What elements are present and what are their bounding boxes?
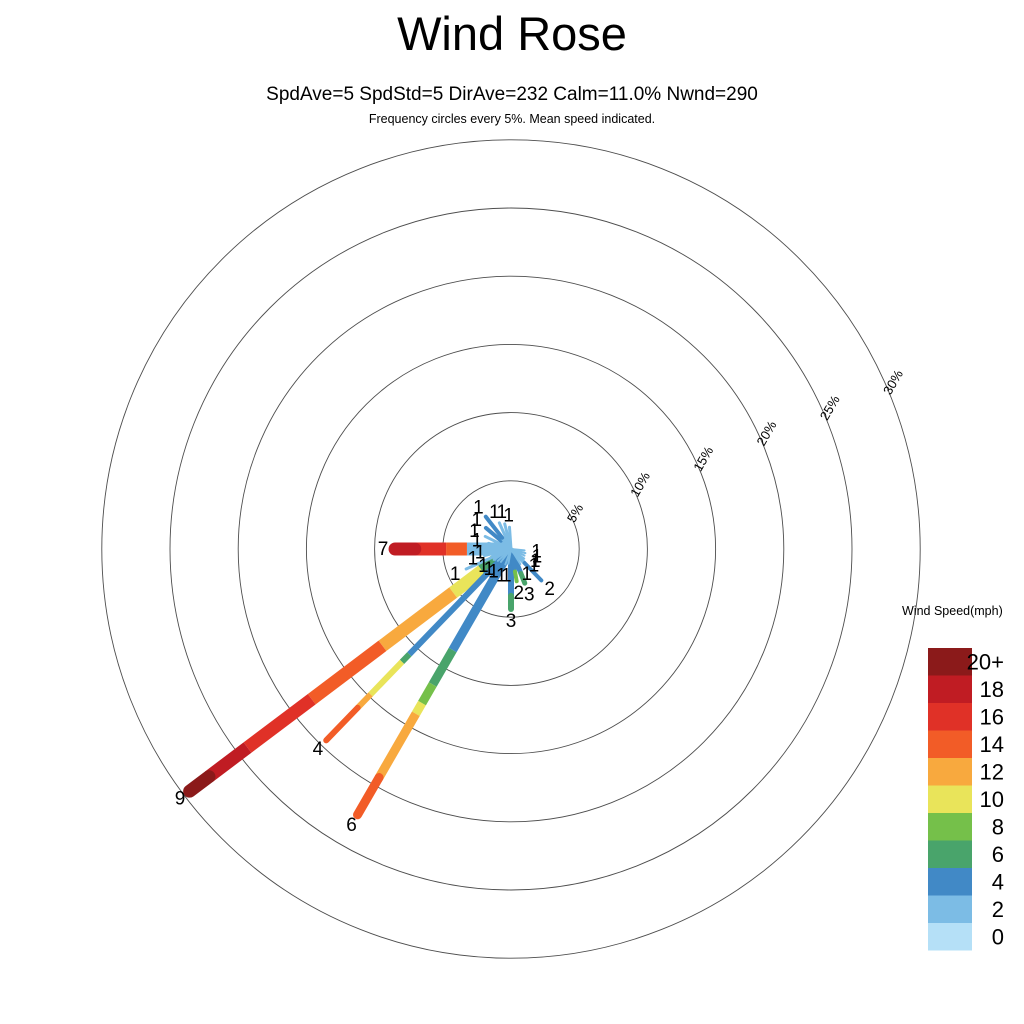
legend-swatch (928, 676, 972, 704)
wind-rose-chart: 5%10%15%20%25%30% 9764332211111111111111… (0, 0, 1024, 1024)
legend-swatch (928, 896, 972, 924)
petal-count-label: 1 (501, 566, 512, 587)
ring-label: 30% (880, 367, 906, 397)
legend-label: 18 (980, 677, 1004, 702)
legend-swatch (928, 923, 972, 951)
petal-count-label: 6 (346, 815, 357, 836)
petal-segment (511, 549, 525, 550)
petal-segment (190, 777, 209, 792)
legend-swatch (928, 758, 972, 786)
legend-swatch (928, 703, 972, 731)
petal-count-label: 1 (531, 542, 542, 563)
petal-segment (358, 778, 379, 815)
petal-count-label: 7 (378, 539, 389, 560)
legend-label: 2 (992, 897, 1004, 922)
legend-label: 10 (980, 787, 1004, 812)
petal-count-label: 2 (513, 583, 524, 604)
petal-count-label: 9 (175, 788, 186, 809)
petal-count-label: 3 (524, 584, 535, 605)
ring-label: 15% (690, 443, 716, 473)
petal-segment (515, 572, 517, 582)
petal-segment (433, 650, 453, 685)
wind-petal (190, 549, 511, 791)
wind-petal (511, 549, 525, 550)
legend-swatch (928, 868, 972, 896)
legend-label: 8 (992, 814, 1004, 839)
petal-segment (371, 662, 402, 695)
legend-swatch (928, 841, 972, 869)
legend-label: 6 (992, 842, 1004, 867)
petal-segment (509, 527, 511, 549)
legend-label: 4 (992, 869, 1004, 894)
petal-segment (379, 714, 416, 778)
legend-swatch (928, 731, 972, 759)
wind-petal (509, 527, 511, 549)
petal-count-label: 1 (473, 497, 484, 518)
ring-label: 20% (754, 418, 780, 448)
ring-label: 5% (564, 501, 587, 525)
petal-count-label: 2 (544, 579, 555, 600)
petal-count-label: 4 (313, 739, 324, 760)
legend-swatch (928, 786, 972, 814)
legend-label: 14 (980, 732, 1004, 757)
wind-rose-page: Wind Rose SpdAve=5 SpdStd=5 DirAve=232 C… (0, 0, 1024, 1024)
petal-segment (416, 703, 422, 714)
ring-labels: 5%10%15%20%25%30% (564, 367, 906, 525)
legend-label: 12 (980, 759, 1004, 784)
legend-swatch (928, 813, 972, 841)
legend-label: 0 (992, 924, 1004, 949)
petal-count-label: 3 (506, 611, 517, 632)
petal-segment (422, 685, 433, 704)
legend-title: Wind Speed(mph) (902, 604, 1003, 618)
petal-count-label: 1 (503, 505, 514, 526)
petal-segment (402, 654, 409, 662)
petal-count-label: 1 (450, 564, 461, 585)
legend-label: 16 (980, 704, 1004, 729)
ring-label: 25% (817, 392, 843, 422)
ring-label: 10% (627, 469, 653, 499)
petal-segment (326, 708, 357, 741)
legend-swatch (928, 648, 972, 676)
legend-swatches: 20+181614121086420 (928, 648, 1004, 951)
legend-label: 20+ (967, 649, 1004, 674)
petal-segment (247, 699, 311, 747)
petal-segment (209, 748, 248, 777)
